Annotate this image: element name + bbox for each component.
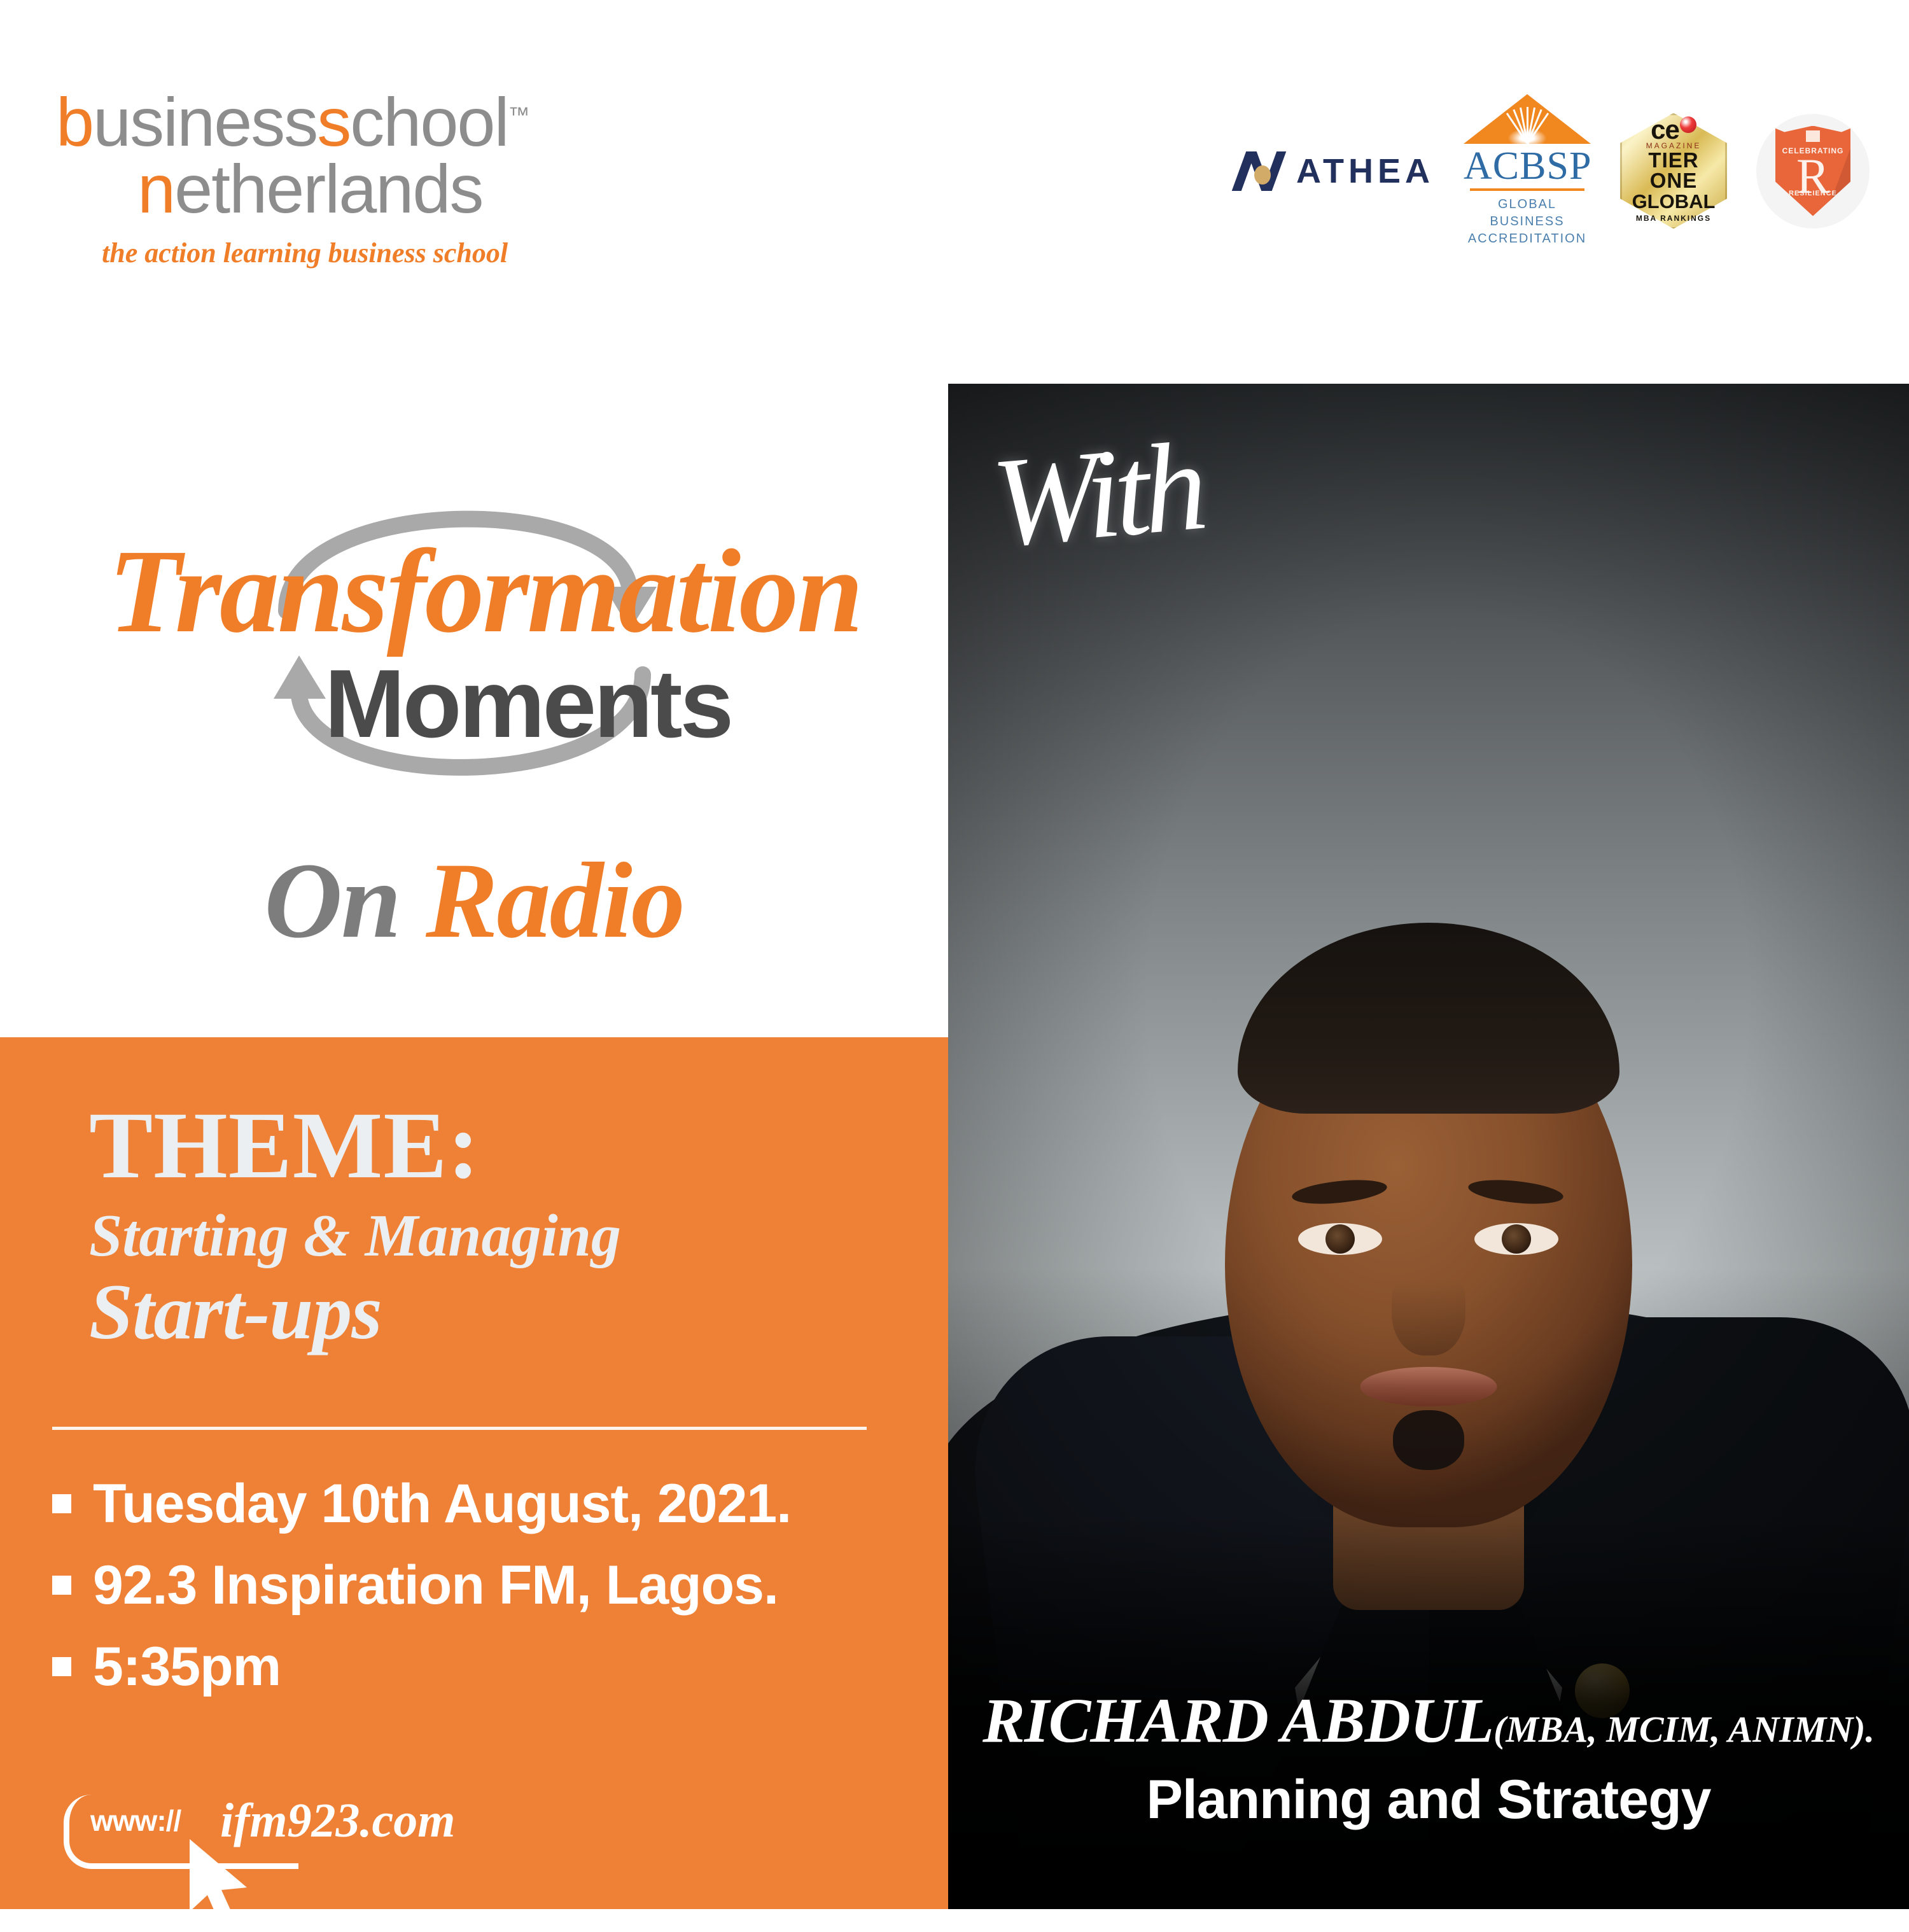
- speaker-photo-panel: With RICHARD ABDUL(MBA, MCIM, ANIMN). Pl…: [948, 384, 1909, 1909]
- list-item: 5:35pm: [52, 1639, 899, 1694]
- list-item: 92.3 Inspiration FM, Lagos.: [52, 1558, 899, 1613]
- on-radio-title: On Radio: [0, 846, 948, 955]
- ceo-brand-text: ce: [1651, 119, 1679, 141]
- globe-icon: [1680, 116, 1696, 133]
- url-protocol: www://: [90, 1803, 181, 1838]
- logo-line-businessschool: businessschool™: [56, 89, 529, 156]
- logo-line-netherlands: netherlands: [56, 156, 529, 223]
- theme-kicker: THEME:: [89, 1098, 480, 1193]
- business-school-netherlands-logo: businessschool™ netherlands the action l…: [56, 89, 529, 269]
- show-title-bold: Moments: [325, 655, 731, 752]
- acbsp-rule: [1470, 188, 1584, 191]
- logo-letter-s: s: [317, 83, 350, 160]
- speaker-role: Planning and Strategy: [948, 1768, 1909, 1831]
- section-divider: [52, 1427, 867, 1430]
- event-details-list: Tuesday 10th August, 2021. 92.3 Inspirat…: [52, 1476, 899, 1721]
- detail-station: 92.3 Inspiration FM, Lagos.: [93, 1558, 778, 1613]
- badge-acbsp: ACBSP GLOBAL BUSINESS ACCREDITATION: [1464, 94, 1591, 248]
- theme-line-2: Start-ups: [89, 1273, 382, 1352]
- trademark-symbol: ™: [508, 103, 529, 127]
- athea-label: ATHEA: [1296, 151, 1434, 191]
- detail-date: Tuesday 10th August, 2021.: [93, 1476, 791, 1531]
- ceo-magazine-wordmark: ce: [1651, 119, 1696, 141]
- theme-panel: THEME: Starting & Managing Start-ups Tue…: [0, 1037, 948, 1909]
- logo-text-etherlands: etherlands: [174, 150, 482, 227]
- accreditation-badges: ATHEA ACBSP GLOBAL BUSINESS: [1238, 94, 1870, 248]
- ceo-rankings-label: MBA RANKINGS: [1636, 214, 1711, 223]
- speaker-name: RICHARD ABDUL: [982, 1685, 1493, 1756]
- mouse-cursor-icon: [185, 1837, 261, 1932]
- speaker-postnominals: (MBA, MCIM, ANIMN).: [1493, 1709, 1875, 1750]
- ceo-tier-label: TIER: [1648, 150, 1698, 171]
- ceo-one-label: ONE: [1650, 171, 1698, 191]
- acbsp-label: ACBSP: [1464, 146, 1591, 186]
- speaker-name-line: RICHARD ABDUL(MBA, MCIM, ANIMN).: [948, 1684, 1909, 1757]
- logo-letter-n: n: [137, 150, 174, 227]
- detail-time: 5:35pm: [93, 1639, 281, 1694]
- bullet-square-icon: [52, 1657, 71, 1676]
- on-word: On: [264, 841, 400, 960]
- ceo-global-label: GLOBAL: [1632, 192, 1716, 211]
- athea-chevron-icon: [1238, 151, 1285, 191]
- brand-tagline: the action learning business school: [56, 237, 529, 269]
- badge-ceo-tier-one-global: ce MAGAZINE TIER ONE GLOBAL MBA RANKINGS: [1620, 113, 1727, 229]
- badge-athea: ATHEA: [1238, 151, 1434, 191]
- bullet-square-icon: [52, 1494, 71, 1513]
- logo-text-usiness: usiness: [93, 83, 317, 160]
- list-item: Tuesday 10th August, 2021.: [52, 1476, 899, 1531]
- theme-line-1: Starting & Managing: [89, 1206, 621, 1266]
- acbsp-subtitle-line2: ACCREDITATION: [1464, 230, 1591, 248]
- website-link[interactable]: www:// ifm923.com: [64, 1795, 636, 1890]
- with-script-label: With: [987, 413, 1206, 577]
- header: businessschool™ netherlands the action l…: [0, 0, 1909, 382]
- show-title-script: Transformation: [108, 531, 827, 651]
- logo-letter-b: b: [56, 83, 93, 160]
- acbsp-sunburst-icon: [1464, 94, 1591, 144]
- show-logo-block: Transformation Moments On Radio: [0, 382, 948, 1037]
- radio-word: Radio: [426, 841, 684, 960]
- shield-icon: CELEBRATING R RESILIENCE: [1775, 126, 1850, 216]
- bullet-square-icon: [52, 1576, 71, 1595]
- speaker-caption: RICHARD ABDUL(MBA, MCIM, ANIMN). Plannin…: [948, 1684, 1909, 1831]
- badge-celebrating-resilience: CELEBRATING R RESILIENCE: [1756, 114, 1870, 228]
- acbsp-subtitle-line1: GLOBAL BUSINESS: [1464, 196, 1591, 230]
- poster-canvas: businessschool™ netherlands the action l…: [0, 0, 1909, 1909]
- logo-text-chool: chool: [350, 83, 508, 160]
